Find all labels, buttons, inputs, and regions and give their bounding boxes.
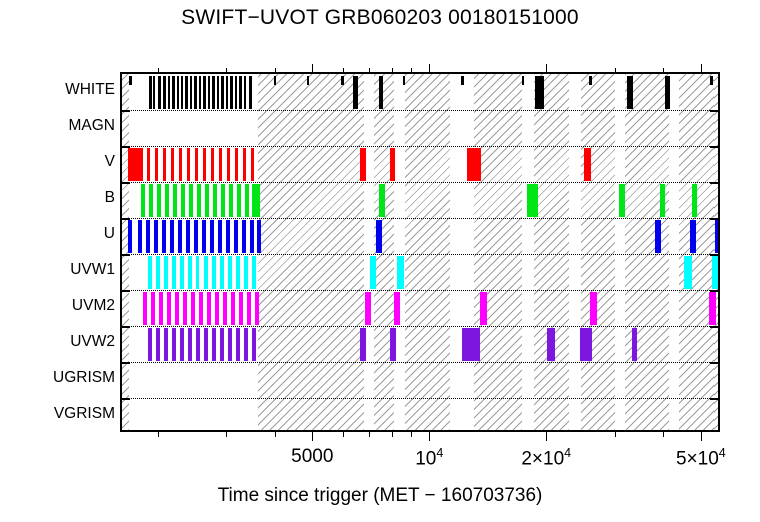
exposure-bar-uvw1: [196, 256, 199, 289]
x-tick-label: 104: [415, 446, 443, 470]
x-tick-label-text: 5000: [291, 446, 333, 467]
x-tick-label-exponent: 4: [436, 446, 443, 460]
exposure-bar-uvm2: [480, 292, 487, 325]
exposure-bar-short-white: [589, 76, 592, 85]
x-tick-label-text: 2×10: [521, 448, 564, 469]
exposure-bar-uvw2: [390, 328, 396, 361]
exposure-bar-b: [221, 184, 225, 217]
exposure-bar-white: [379, 76, 383, 109]
exposure-bar-uvw1: [212, 256, 216, 289]
exposure-bar-uvm2: [199, 292, 203, 325]
x-tick-minor: [392, 432, 393, 437]
exposure-bars: [122, 74, 718, 430]
exposure-bar-uvw2: [228, 328, 232, 361]
exposure-bar-v: [235, 148, 238, 181]
exposure-bar-uvw2: [148, 328, 152, 361]
x-tick-major: [312, 432, 313, 441]
exposure-bar-b: [141, 184, 145, 217]
exposure-bar-u: [250, 220, 254, 253]
exposure-bar-white: [208, 76, 210, 109]
exposure-bar-u: [234, 220, 238, 253]
x-tick-label: 5×104: [676, 446, 726, 470]
exposure-bar-u: [154, 220, 158, 253]
exposure-bar-v: [179, 148, 182, 181]
x-tick-major: [546, 432, 547, 441]
exposure-bar-white: [163, 76, 166, 109]
exposure-bar-uvw2: [204, 328, 208, 361]
exposure-bar-uvm2: [159, 292, 163, 325]
exposure-bar-v: [163, 148, 166, 181]
exposure-bar-uvw2: [360, 328, 366, 361]
exposure-bar-v: [155, 148, 158, 181]
exposure-bar-uvm2: [239, 292, 243, 325]
exposure-bar-uvw1: [244, 256, 248, 289]
exposure-bar-b: [173, 184, 177, 217]
y-axis-label-uvw2: UVW2: [2, 334, 120, 350]
exposure-bar-uvw1: [684, 256, 692, 289]
exposure-bar-uvm2: [365, 292, 371, 325]
exposure-bar-uvw2: [156, 328, 160, 361]
exposure-bar-uvw1: [156, 256, 160, 289]
exposure-bar-uvm2: [143, 292, 147, 325]
exposure-bar-uvm2: [191, 292, 195, 325]
exposure-bar-b: [692, 184, 697, 217]
exposure-bar-b: [157, 184, 161, 217]
x-tick-minor: [226, 432, 227, 437]
exposure-bar-uvm2: [175, 292, 179, 325]
exposure-bar-uvw1: [148, 256, 152, 289]
exposure-bar-white: [353, 76, 358, 109]
exposure-bar-v: [195, 148, 198, 181]
exposure-bar-b: [213, 184, 217, 217]
exposure-bar-uvm2: [394, 292, 400, 325]
exposure-bar-u: [226, 220, 230, 253]
exposure-bar-v: [203, 148, 206, 181]
x-tick-minor: [411, 432, 412, 437]
x-tick-label-text: 5×10: [676, 448, 719, 469]
exposure-bar-b: [197, 184, 201, 217]
exposure-bar-b: [149, 184, 153, 217]
exposure-bar-b: [205, 184, 209, 217]
exposure-bar-uvw1: [220, 256, 224, 289]
exposure-bar-u: [715, 220, 720, 253]
exposure-bar-b: [527, 184, 538, 217]
exposure-bar-u: [170, 220, 174, 253]
exposure-bar-uvw1: [370, 256, 376, 289]
x-tick-minor: [343, 432, 344, 437]
exposure-bar-uvm2: [207, 292, 211, 325]
exposure-bar-short-white: [522, 76, 524, 85]
exposure-bar-white: [190, 76, 192, 109]
exposure-bar-short-white: [403, 76, 405, 85]
exposure-bar-b: [245, 184, 249, 217]
exposure-bar-uvw1: [397, 256, 404, 289]
exposure-bar-uvw2: [236, 328, 240, 361]
exposure-bar-v: [219, 148, 222, 181]
exposure-bar-white: [172, 76, 175, 109]
exposure-bar-uvw2: [188, 328, 192, 361]
exposure-bar-b: [660, 184, 665, 217]
exposure-bar-white: [665, 76, 670, 109]
exposure-bar-v: [128, 148, 143, 181]
exposure-bar-uvw2: [547, 328, 555, 361]
exposure-bar-u: [138, 220, 142, 253]
exposure-bar-uvw2: [220, 328, 224, 361]
x-tick-minor: [369, 432, 370, 437]
exposure-bar-uvw2: [244, 328, 248, 361]
exposure-bar-white: [217, 76, 219, 109]
exposure-bar-uvw1: [252, 256, 256, 289]
exposure-bar-uvw2: [212, 328, 216, 361]
y-axis-label-vgrism: VGRISM: [2, 406, 120, 422]
exposure-bar-white: [194, 76, 197, 109]
exposure-bar-v: [467, 148, 481, 181]
exposure-bar-uvw1: [164, 256, 168, 289]
y-axis-label-white: WHITE: [2, 82, 120, 98]
exposure-bar-white: [535, 76, 544, 109]
plot-area: [120, 72, 720, 432]
exposure-bar-uvw1: [188, 256, 192, 289]
exposure-bar-white: [149, 76, 152, 109]
exposure-bar-white: [158, 76, 161, 109]
exposure-bar-uvw1: [228, 256, 232, 289]
exposure-bar-uvm2: [255, 292, 259, 325]
exposure-bar-white: [181, 76, 183, 109]
x-tick-label-text: 10: [415, 448, 436, 469]
exposure-bar-short-white: [710, 76, 713, 85]
exposure-bar-b: [379, 184, 385, 217]
exposure-bar-short-white: [341, 76, 344, 85]
exposure-bar-uvm2: [183, 292, 187, 325]
exposure-bar-white: [221, 76, 224, 109]
exposure-bar-uvw2: [172, 328, 176, 361]
exposure-bar-uvw2: [462, 328, 480, 361]
exposure-bar-uvw2: [180, 328, 184, 361]
x-tick-major: [701, 432, 702, 441]
exposure-bar-u: [162, 220, 166, 253]
uvot-exposure-timeline-figure: SWIFT−UVOT GRB060203 00180151000 WHITEMA…: [0, 0, 760, 522]
exposure-bar-u: [186, 220, 190, 253]
exposure-bar-u: [128, 220, 132, 253]
exposure-bar-b: [165, 184, 169, 217]
exposure-bar-v: [360, 148, 366, 181]
exposure-bar-white: [203, 76, 206, 109]
x-tick-label: 5000: [291, 446, 333, 468]
exposure-bar-uvw2: [164, 328, 168, 361]
x-axis-tick-labels: 50001042×1045×104: [0, 446, 760, 474]
y-axis-label-v: V: [2, 154, 120, 170]
exposure-bar-uvw2: [252, 328, 256, 361]
exposure-bar-u: [257, 220, 261, 253]
x-tick-minor: [615, 432, 616, 437]
exposure-bar-uvw1: [712, 256, 720, 289]
exposure-bar-uvm2: [590, 292, 597, 325]
x-tick-label-exponent: 4: [564, 446, 571, 460]
exposure-bar-uvw1: [236, 256, 240, 289]
exposure-bar-white: [235, 76, 237, 109]
exposure-bar-white: [199, 76, 201, 109]
exposure-bar-white: [168, 76, 170, 109]
exposure-bar-white: [230, 76, 233, 109]
y-axis-label-uvm2: UVM2: [2, 298, 120, 314]
exposure-bar-uvm2: [215, 292, 219, 325]
exposure-bar-v: [243, 148, 246, 181]
exposure-bar-short-white: [274, 76, 276, 85]
exposure-bar-uvm2: [247, 292, 251, 325]
y-axis-label-ugrism: UGRISM: [2, 370, 120, 386]
exposure-bar-uvw1: [204, 256, 208, 289]
y-axis-labels: WHITEMAGNVBUUVW1UVM2UVW2UGRISMVGRISM: [0, 72, 120, 432]
x-tick-major: [429, 432, 430, 441]
y-axis-label-b: B: [2, 190, 120, 206]
x-tick-minor: [275, 432, 276, 437]
exposure-bar-uvm2: [167, 292, 171, 325]
exposure-bar-b: [189, 184, 193, 217]
y-axis-label-u: U: [2, 226, 120, 242]
exposure-bar-b: [619, 184, 625, 217]
exposure-bar-uvw2: [632, 328, 637, 361]
exposure-bar-v: [390, 148, 395, 181]
exposure-bar-uvw2: [196, 328, 200, 361]
x-tick-label: 2×104: [521, 446, 571, 470]
exposure-bar-uvw2: [580, 328, 592, 361]
exposure-bar-uvm2: [151, 292, 155, 325]
x-tick-label-exponent: 4: [719, 446, 726, 460]
exposure-bar-b: [229, 184, 233, 217]
x-tick-minor: [158, 432, 159, 437]
exposure-bar-white: [244, 76, 246, 109]
x-tick-minor: [663, 432, 664, 437]
exposure-bar-uvw1: [172, 256, 176, 289]
exposure-bar-u: [242, 220, 246, 253]
exposure-bar-white: [627, 76, 633, 109]
exposure-bar-u: [218, 220, 222, 253]
exposure-bar-white: [212, 76, 215, 109]
exposure-bar-u: [146, 220, 150, 253]
exposure-bar-uvm2: [223, 292, 227, 325]
exposure-bar-short-white: [129, 76, 132, 85]
exposure-bar-white: [153, 76, 155, 109]
exposure-bar-white: [249, 76, 252, 109]
exposure-bar-b: [237, 184, 241, 217]
exposure-bar-v: [584, 148, 591, 181]
y-axis-label-uvw1: UVW1: [2, 262, 120, 278]
exposure-bar-v: [171, 148, 174, 181]
exposure-bar-b: [181, 184, 185, 217]
y-axis-label-magn: MAGN: [2, 118, 120, 134]
exposure-bar-u: [178, 220, 182, 253]
exposure-bar-v: [211, 148, 214, 181]
exposure-bar-short-white: [307, 76, 309, 85]
exposure-bar-v: [227, 148, 230, 181]
exposure-bar-uvw1: [180, 256, 184, 289]
x-axis-title: Time since trigger (MET − 160703736): [0, 485, 760, 507]
x-axis-ticks: [120, 432, 720, 446]
exposure-bar-u: [376, 220, 382, 253]
exposure-bar-u: [655, 220, 661, 253]
exposure-bar-u: [202, 220, 206, 253]
exposure-bar-v: [251, 148, 254, 181]
exposure-bar-u: [210, 220, 214, 253]
exposure-bar-uvm2: [231, 292, 235, 325]
exposure-bar-white: [185, 76, 188, 109]
exposure-bar-white: [226, 76, 228, 109]
exposure-bar-u: [194, 220, 198, 253]
exposure-bar-u: [690, 220, 696, 253]
exposure-bar-short-white: [461, 76, 464, 85]
exposure-bar-white: [177, 76, 179, 109]
exposure-bar-white: [239, 76, 242, 109]
page-title: SWIFT−UVOT GRB060203 00180151000: [0, 6, 760, 30]
exposure-bar-v: [187, 148, 190, 181]
exposure-bar-uvm2: [709, 292, 716, 325]
exposure-bar-b: [252, 184, 260, 217]
exposure-bar-v: [147, 148, 150, 181]
